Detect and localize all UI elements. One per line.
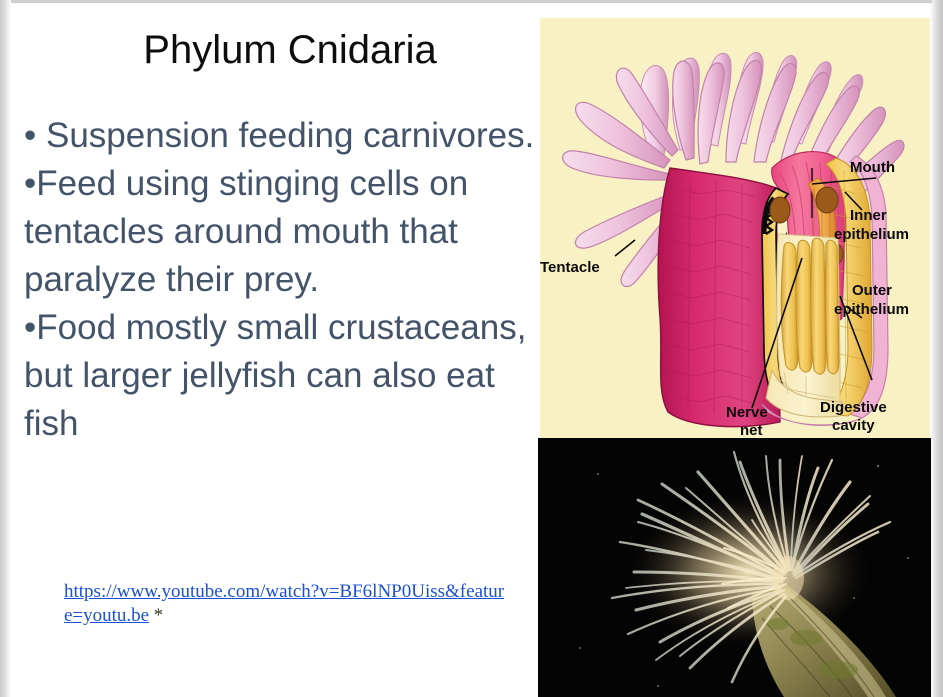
page-edge-top	[11, 0, 932, 3]
bullet-item-3: •Food mostly small crustaceans, but larg…	[24, 304, 536, 448]
tube-anemone-photo-image	[538, 438, 931, 697]
diagram-label-inner-epithelium-line1: Inner	[850, 206, 887, 225]
slide-canvas: Phylum Cnidaria • Suspension feeding car…	[0, 0, 943, 697]
link-footnote-asterisk: *	[154, 605, 164, 626]
diagram-label-outer-epithelium-line1: Outer	[852, 281, 892, 300]
hyperlink-block: https://www.youtube.com/watch?v=BF6lNP0U…	[64, 580, 509, 628]
diagram-label-nerve-net-line2: net	[740, 421, 763, 438]
page-gutter-right	[930, 0, 943, 697]
youtube-link[interactable]: https://www.youtube.com/watch?v=BF6lNP0U…	[64, 581, 504, 626]
tube-anemone-photo	[538, 438, 931, 697]
slide-title: Phylum Cnidaria	[60, 26, 520, 74]
diagram-label-digestive-cavity-line2: cavity	[832, 416, 875, 435]
diagram-label-inner-epithelium-line2: epithelium	[834, 225, 909, 244]
diagram-label-nerve-net-line1: Nerve	[726, 403, 768, 422]
bullet-item-2: •Feed using stinging cells on tentacles …	[24, 160, 536, 304]
diagram-label-tentacle: Tentacle	[540, 258, 600, 277]
diagram-label-outer-epithelium-line2: epithelium	[834, 300, 909, 319]
page-gutter-left	[0, 0, 11, 697]
diagram-label-mouth: Mouth	[850, 158, 895, 177]
bullet-item-1: • Suspension feeding carnivores.	[24, 112, 536, 160]
diagram-label-digestive-cavity-line1: Digestive	[820, 398, 887, 417]
slide-body: • Suspension feeding carnivores. •Feed u…	[24, 112, 536, 448]
anemone-anatomy-diagram: Mouth Inner epithelium Outer epithelium …	[540, 18, 930, 438]
